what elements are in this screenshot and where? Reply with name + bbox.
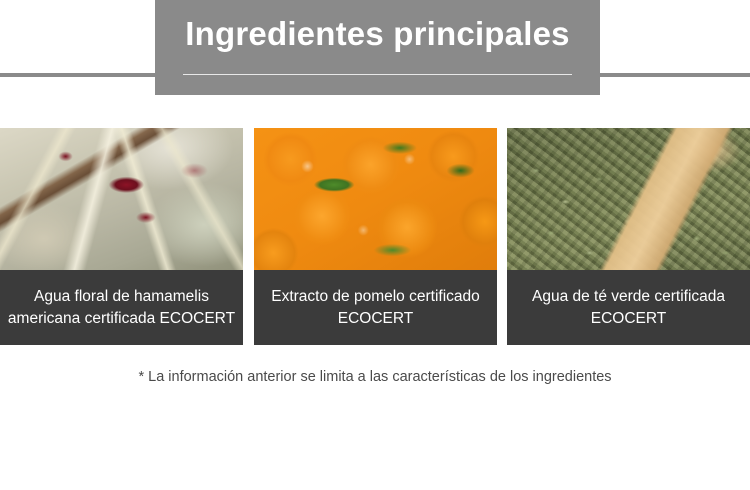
footnote-text: * La información anterior se limita a la… (0, 367, 750, 387)
page-header: Ingredientes principales (0, 0, 750, 128)
witch-hazel-flowers-photo (0, 128, 243, 270)
ingredient-card-grid: Agua floral de hamamelis americana certi… (0, 128, 750, 345)
ingredient-card: Extracto de pomelo certificado ECOCERT (254, 128, 497, 345)
ingredient-card: Agua de té verde certificada ECOCERT (507, 128, 750, 345)
header-title-underline (183, 74, 572, 75)
header-banner: Ingredientes principales (155, 0, 600, 95)
ingredient-caption: Agua de té verde certificada ECOCERT (507, 270, 750, 345)
green-tea-leaves-image (507, 128, 750, 270)
witch-hazel-flowers-image (0, 128, 243, 270)
ingredient-caption: Extracto de pomelo certificado ECOCERT (254, 270, 497, 345)
green-tea-leaves-photo (507, 128, 750, 270)
mandarin-oranges-image (254, 128, 497, 270)
ingredient-card: Agua floral de hamamelis americana certi… (0, 128, 243, 345)
ingredient-caption: Agua floral de hamamelis americana certi… (0, 270, 243, 345)
mandarin-oranges-photo (254, 128, 497, 270)
page-title: Ingredientes principales (155, 0, 600, 68)
